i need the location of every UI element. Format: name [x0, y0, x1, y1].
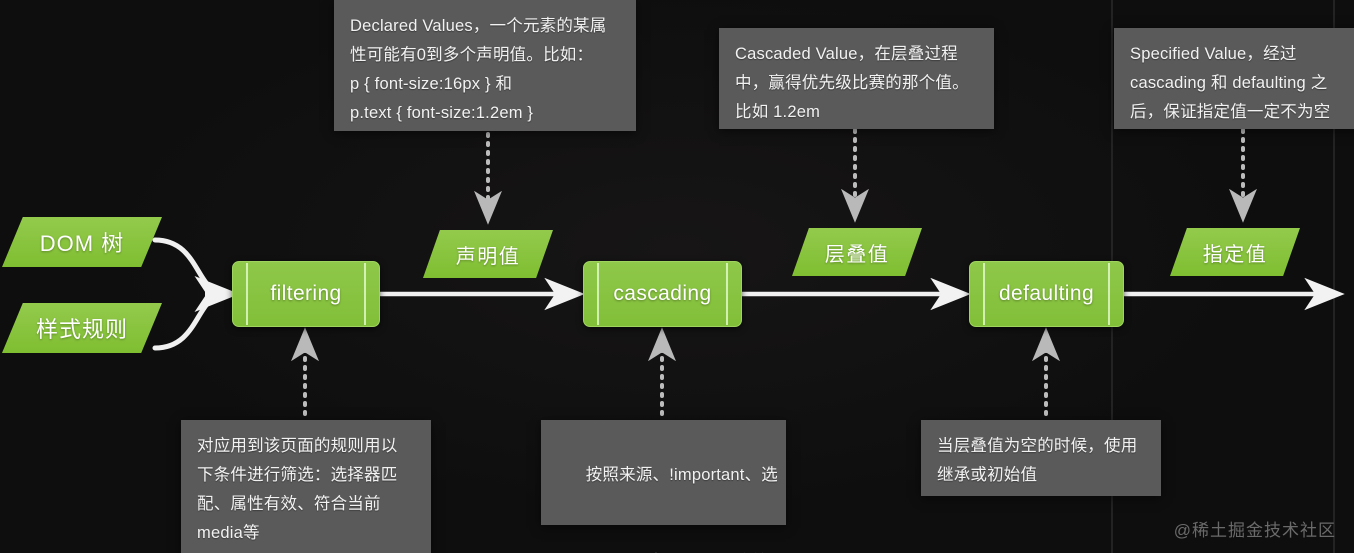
- connector-rules-to-filtering: [155, 294, 225, 348]
- callout-line: media等: [197, 519, 415, 548]
- callout-line: 当层叠值为空的时候，使用: [937, 432, 1145, 461]
- stage-filtering[interactable]: filtering: [232, 261, 380, 327]
- callout-line: Declared Values，一个元素的某属: [350, 12, 620, 41]
- connector-dom-to-filtering: [155, 240, 225, 294]
- stage-defaulting-label: defaulting: [970, 262, 1123, 326]
- value-cascaded-label: 层叠值: [825, 238, 890, 267]
- callout-line: cascading 和 defaulting 之: [1130, 69, 1346, 98]
- value-cascaded[interactable]: 层叠值: [792, 228, 922, 276]
- callout-line: 对应用到该页面的规则用以: [197, 432, 415, 461]
- specified-value-callout: Specified Value，经过 cascading 和 defaultin…: [1114, 28, 1354, 129]
- stage-filtering-label: filtering: [233, 262, 379, 326]
- value-declared-label: 声明值: [456, 240, 521, 269]
- cascading-callout: 按照来源、!important、选 择器特异性、书写顺序等选 出优先级最高的一个…: [541, 420, 786, 525]
- input-dom-tree[interactable]: DOM 树: [2, 217, 162, 267]
- stage-cascading[interactable]: cascading: [583, 261, 742, 327]
- declared-values-callout: Declared Values，一个元素的某属 性可能有0到多个声明值。比如： …: [334, 0, 636, 131]
- callout-text: 按照来源、!important、选: [586, 466, 778, 484]
- diagram-canvas: Declared Values，一个元素的某属 性可能有0到多个声明值。比如： …: [0, 0, 1354, 553]
- input-dom-tree-label: DOM 树: [40, 226, 124, 258]
- callout-line: Specified Value，经过: [1130, 40, 1346, 69]
- input-style-rules[interactable]: 样式规则: [2, 303, 162, 353]
- callout-line: 性可能有0到多个声明值。比如：: [350, 41, 620, 70]
- callout-line: 下条件进行筛选：选择器匹: [197, 461, 415, 490]
- filtering-callout: 对应用到该页面的规则用以 下条件进行筛选：选择器匹 配、属性有效、符合当前 me…: [181, 420, 431, 553]
- callout-line: p { font-size:16px } 和: [350, 70, 620, 99]
- watermark: @稀土掘金技术社区: [1174, 516, 1336, 541]
- value-declared[interactable]: 声明值: [423, 230, 553, 278]
- stage-defaulting[interactable]: defaulting: [969, 261, 1124, 327]
- value-specified-label: 指定值: [1203, 238, 1268, 267]
- value-specified[interactable]: 指定值: [1170, 228, 1300, 276]
- callout-line: 后，保证指定值一定不为空: [1130, 98, 1346, 127]
- callout-line: 配、属性有效、符合当前: [197, 490, 415, 519]
- input-style-rules-label: 样式规则: [36, 312, 128, 344]
- defaulting-callout: 当层叠值为空的时候，使用 继承或初始值: [921, 420, 1161, 496]
- cascaded-value-callout: Cascaded Value，在层叠过程 中，赢得优先级比赛的那个值。 比如 1…: [719, 28, 994, 129]
- callout-line: 比如 1.2em: [735, 98, 978, 127]
- callout-line: 继承或初始值: [937, 461, 1145, 490]
- callout-line: 按照来源、!important、选: [557, 432, 770, 519]
- callout-line: Cascaded Value，在层叠过程: [735, 40, 978, 69]
- callout-line: p.text { font-size:1.2em }: [350, 99, 620, 128]
- callout-line: 择器特异性、书写顺序等选: [557, 519, 770, 553]
- stage-cascading-label: cascading: [584, 262, 741, 326]
- callout-line: 中，赢得优先级比赛的那个值。: [735, 69, 978, 98]
